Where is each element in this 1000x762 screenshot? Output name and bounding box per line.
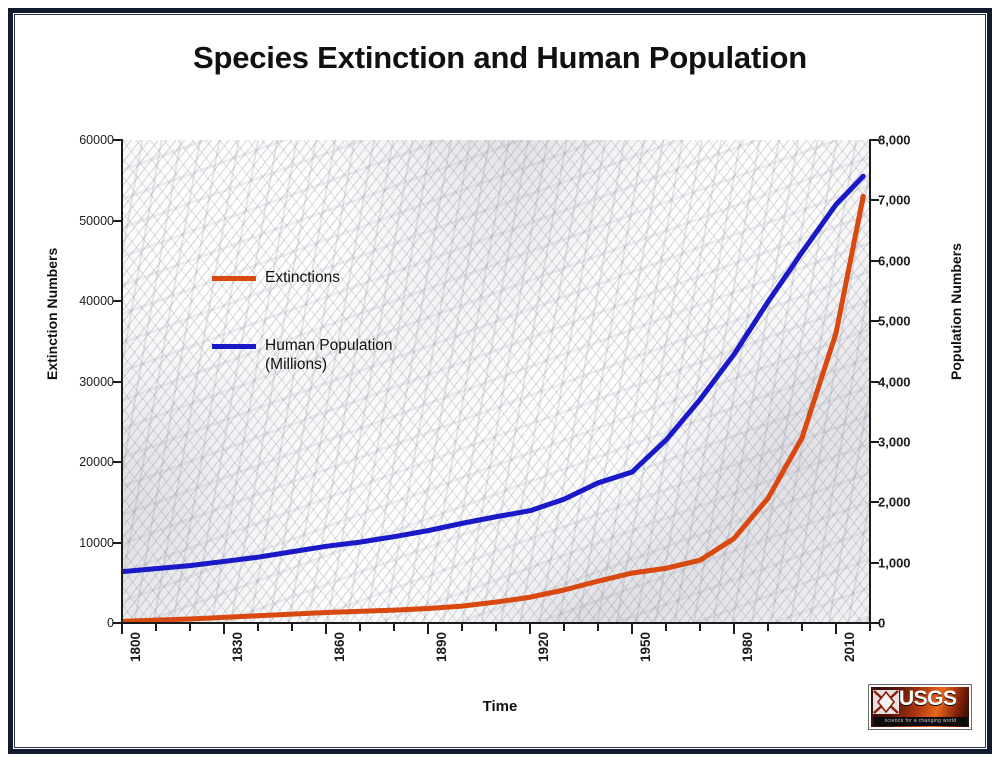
y-axis-right-tick-label: 0 — [878, 616, 885, 631]
plot-series-svg — [122, 140, 870, 623]
x-axis-tick-label: 1890 — [434, 632, 449, 662]
x-axis-minor-tick — [563, 622, 565, 631]
y-axis-right-tick-label: 5,000 — [878, 314, 911, 329]
usgs-emblem-icon — [873, 690, 899, 714]
y-axis-left-tick — [113, 461, 123, 463]
x-axis-minor-tick — [767, 622, 769, 631]
x-axis-tick-label: 1830 — [230, 632, 245, 662]
plot-area: 0100002000030000400005000060000 01,0002,… — [122, 140, 870, 623]
x-axis-minor-tick — [155, 622, 157, 631]
y-axis-left-tick-label: 10000 — [79, 536, 114, 550]
x-axis-major-tick — [835, 622, 837, 634]
x-axis-major-tick — [733, 622, 735, 634]
x-axis-minor-tick — [869, 622, 871, 631]
legend-swatch-human-population — [212, 344, 256, 349]
x-axis-tick-label: 2010 — [842, 632, 857, 662]
x-axis-minor-tick — [699, 622, 701, 631]
x-axis-major-tick — [325, 622, 327, 634]
y-axis-left-tick-label: 0 — [107, 616, 114, 630]
y-axis-left-tick-label: 50000 — [79, 214, 114, 228]
x-axis-tick-label: 1980 — [740, 632, 755, 662]
series-line-extinctions — [122, 196, 863, 621]
y-axis-left-tick — [113, 381, 123, 383]
x-axis-major-tick — [427, 622, 429, 634]
y-axis-right-tick-label: 3,000 — [878, 434, 911, 449]
x-axis-major-tick — [223, 622, 225, 634]
y-axis-left-tick-label: 60000 — [79, 133, 114, 147]
x-axis-tick-label: 1800 — [128, 632, 143, 662]
y-axis-left-tick — [113, 139, 123, 141]
x-axis-minor-tick — [801, 622, 803, 631]
x-axis-minor-tick — [393, 622, 395, 631]
usgs-logo[interactable]: USGS science for a changing world — [868, 684, 972, 730]
x-axis-minor-tick — [257, 622, 259, 631]
y-axis-left-tick-label: 30000 — [79, 375, 114, 389]
y-axis-right-tick-label: 7,000 — [878, 193, 911, 208]
x-axis-minor-tick — [291, 622, 293, 631]
x-axis-minor-tick — [495, 622, 497, 631]
y-axis-left-tick-label: 40000 — [79, 294, 114, 308]
legend-label-extinctions: Extinctions — [265, 268, 340, 287]
y-axis-left-tick — [113, 220, 123, 222]
legend-swatch-extinctions — [212, 276, 256, 281]
x-axis-tick-label: 1920 — [536, 632, 551, 662]
y-axis-left-tick — [113, 542, 123, 544]
usgs-tagline: science for a changing world — [874, 717, 967, 726]
x-axis-minor-tick — [461, 622, 463, 631]
x-axis-minor-tick — [359, 622, 361, 631]
x-axis-minor-tick — [597, 622, 599, 631]
page-title: Species Extinction and Human Population — [0, 40, 1000, 76]
y-axis-right-tick-label: 1,000 — [878, 555, 911, 570]
y-axis-title-left: Extinction Numbers — [44, 248, 60, 380]
x-axis-major-tick — [631, 622, 633, 634]
y-axis-right-tick-label: 2,000 — [878, 495, 911, 510]
y-axis-left-tick-label: 20000 — [79, 455, 114, 469]
usgs-logo-inner: USGS science for a changing world — [871, 687, 969, 727]
legend-item-human-population: Human Population (Millions) — [212, 336, 393, 375]
y-axis-right-tick-label: 4,000 — [878, 374, 911, 389]
x-axis-tick-label: 1950 — [638, 632, 653, 662]
x-axis-title: Time — [0, 698, 1000, 715]
x-axis-tick-label: 1860 — [332, 632, 347, 662]
legend-item-extinctions: Extinctions — [212, 268, 340, 287]
x-axis-major-tick — [529, 622, 531, 634]
y-axis-left-tick — [113, 300, 123, 302]
x-axis-minor-tick — [665, 622, 667, 631]
legend-label-human-population: Human Population (Millions) — [265, 336, 393, 375]
slide-canvas: Species Extinction and Human Population … — [0, 0, 1000, 762]
usgs-wordmark: USGS — [899, 688, 957, 709]
y-axis-right-tick-label: 6,000 — [878, 253, 911, 268]
y-axis-right-tick-label: 8,000 — [878, 133, 911, 148]
x-axis-major-tick — [121, 622, 123, 634]
x-axis-minor-tick — [189, 622, 191, 631]
y-axis-title-right: Population Numbers — [948, 243, 964, 380]
